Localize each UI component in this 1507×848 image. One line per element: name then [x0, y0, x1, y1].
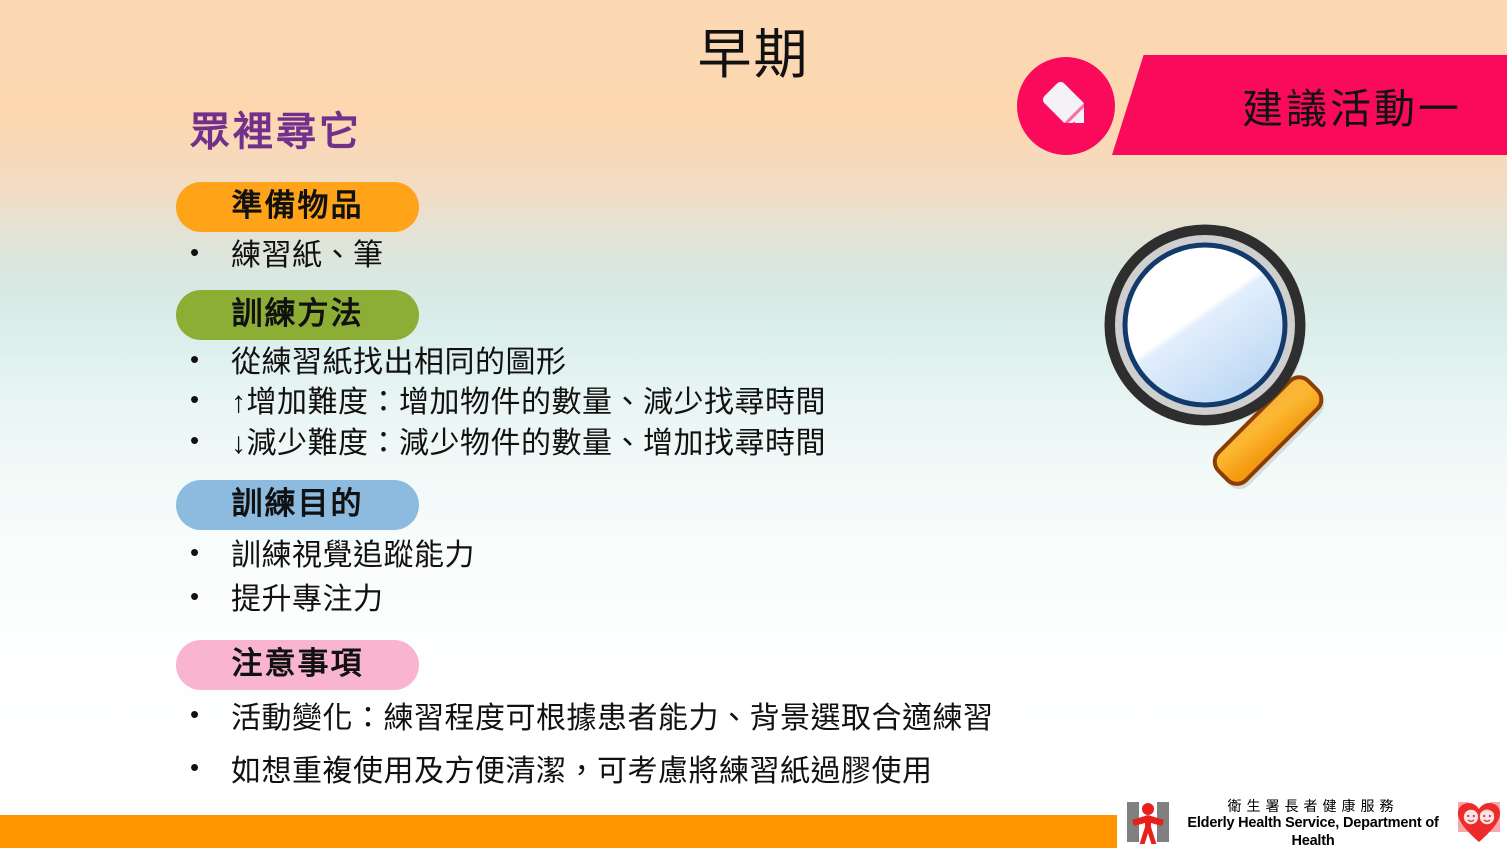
- list-item: 如想重複使用及方便清潔，可考慮將練習紙過膠使用: [176, 749, 1136, 795]
- section-method: 訓練方法 從練習紙找出相同的圖形 ↑增加難度：增加物件的數量、減少找尋時間 ↓減…: [176, 290, 1136, 464]
- bullet-list-method: 從練習紙找出相同的圖形 ↑增加難度：增加物件的數量、減少找尋時間 ↓減少難度：減…: [176, 343, 1136, 465]
- pencil-badge: [1017, 57, 1115, 155]
- activity-title: 眾裡尋它: [190, 99, 362, 157]
- section-purpose: 訓練目的 訓練視覺追蹤能力 提升專注力: [176, 480, 1136, 622]
- footer-org-zh: 衛生署長者健康服務: [1175, 798, 1451, 816]
- activity-banner: 建議活動一: [1017, 55, 1507, 160]
- magnifying-glass-icon: [1090, 215, 1420, 515]
- list-item: 活動變化：練習程度可根據患者能力、背景選取合適練習: [176, 696, 1136, 742]
- bullet-list-prepare: 練習紙、筆: [176, 234, 1136, 278]
- list-item: 訓練視覺追蹤能力: [176, 534, 1136, 578]
- list-item: 從練習紙找出相同的圖形: [176, 343, 1136, 384]
- footer-org-en: Elderly Health Service, Department of He…: [1175, 815, 1451, 848]
- footer-org-text: 衛生署長者健康服務 Elderly Health Service, Depart…: [1171, 798, 1455, 848]
- slide-canvas: 早期 建議活動一 眾裡尋它 準備物品 練習紙、筆: [0, 0, 1507, 848]
- section-header-notes: 注意事項: [176, 640, 419, 690]
- section-notes: 注意事項 活動變化：練習程度可根據患者能力、背景選取合適練習 如想重複使用及方便…: [176, 640, 1136, 794]
- banner-label: 建議活動一: [1192, 55, 1507, 155]
- list-item: 練習紙、筆: [176, 234, 1136, 278]
- footer-orange-bar: [0, 815, 1128, 848]
- section-header-purpose: 訓練目的: [176, 480, 419, 530]
- footer-logos: 衛生署長者健康服務 Elderly Health Service, Depart…: [1117, 800, 1507, 848]
- section-prepare: 準備物品 練習紙、筆: [176, 182, 1136, 278]
- content-column: 準備物品 練習紙、筆 訓練方法 從練習紙找出相同的圖形 ↑增加難度：增加物件的數…: [176, 182, 1136, 801]
- bullet-list-purpose: 訓練視覺追蹤能力 提升專注力: [176, 534, 1136, 622]
- bullet-list-notes: 活動變化：練習程度可根據患者能力、背景選取合適練習 如想重複使用及方便清潔，可考…: [176, 696, 1136, 794]
- list-item: ↑增加難度：增加物件的數量、減少找尋時間: [176, 383, 1136, 424]
- section-header-prepare: 準備物品: [176, 182, 419, 232]
- elderly-heart-logo-icon: [1455, 800, 1503, 848]
- section-header-method: 訓練方法: [176, 290, 419, 340]
- list-item: 提升專注力: [176, 578, 1136, 622]
- list-item: ↓減少難度：減少物件的數量、增加找尋時間: [176, 424, 1136, 465]
- dh-pillar-logo-icon: [1125, 800, 1171, 848]
